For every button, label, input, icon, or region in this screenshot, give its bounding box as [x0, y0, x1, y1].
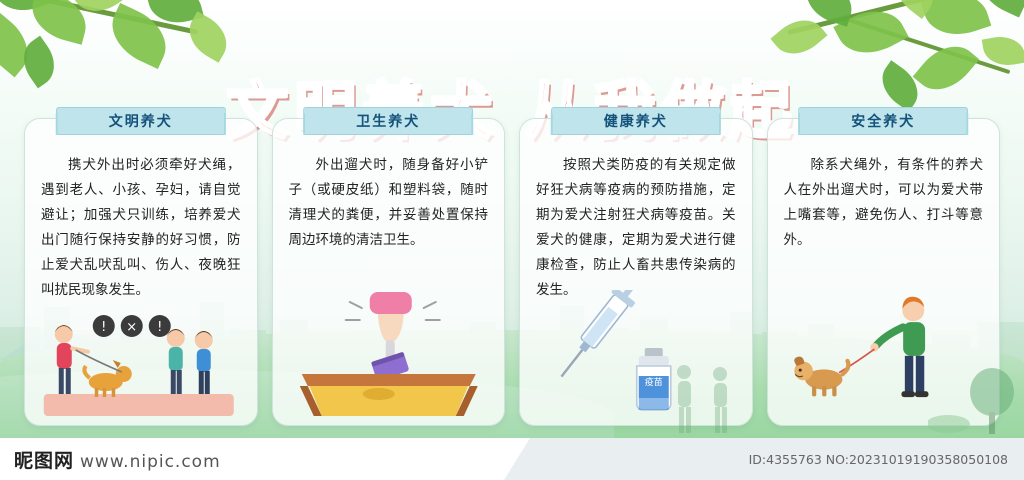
- card-body-text: 除系犬绳外，有条件的养犬人在外出遛犬时，可以为爱犬带上嘴套等，避免伤人、打斗等意…: [768, 119, 1000, 253]
- card-body-text: 外出遛犬时，随身备好小铲子（或硬皮纸）和塑料袋，随时清理犬的粪便，并妥善处置保持…: [273, 119, 505, 253]
- asset-id-bar: ID:4355763 NO:20231019190358050108: [504, 438, 1024, 480]
- footer-bar: 昵图网www.nipic.com ID:4355763 NO:202310191…: [0, 438, 1024, 480]
- cards-row: 文明养犬 携犬外出时必须牵好犬绳，遇到老人、小孩、孕妇，请自觉避让；加强犬只训练…: [24, 118, 1000, 426]
- brand-url: www.nipic.com: [80, 452, 221, 472]
- background-tree-silhouette: [928, 366, 1018, 436]
- card-hygiene: 卫生养犬 外出遛犬时，随身备好小铲子（或硬皮纸）和塑料袋，随时清理犬的粪便，并妥…: [272, 118, 506, 426]
- card-civilized: 文明养犬 携犬外出时必须牵好犬绳，遇到老人、小孩、孕妇，请自觉避让；加强犬只训练…: [24, 118, 258, 426]
- illustration-shovel-cleanup: [273, 290, 505, 425]
- background-people-silhouette: [660, 358, 780, 438]
- illustration-woman-walking-dog: ! × !: [25, 290, 257, 425]
- card-body-text: 携犬外出时必须牵好犬绳，遇到老人、小孩、孕妇，请自觉避让；加强犬只训练，培养爱犬…: [25, 119, 257, 303]
- site-brand: 昵图网www.nipic.com: [14, 446, 221, 473]
- card-ribbon-title: 健康养犬: [551, 107, 721, 135]
- poster-canvas: 文明养犬 从我做起 文明养犬 携犬外出时必须牵好犬绳，遇到老人、小孩、孕妇，请自…: [0, 0, 1024, 480]
- card-ribbon-title: 卫生养犬: [303, 107, 473, 135]
- svg-text:×: ×: [126, 320, 137, 335]
- svg-text:!: !: [101, 320, 106, 335]
- asset-id-text: ID:4355763 NO:20231019190358050108: [749, 452, 1008, 467]
- card-ribbon-title: 安全养犬: [798, 107, 968, 135]
- card-body-text: 按照犬类防疫的有关规定做好狂犬病等疫病的预防措施，定期为爱犬注射狂犬病等疫苗。关…: [520, 119, 752, 303]
- card-ribbon-title: 文明养犬: [56, 107, 226, 135]
- svg-text:!: !: [157, 320, 162, 335]
- brand-name: 昵图网: [14, 450, 74, 472]
